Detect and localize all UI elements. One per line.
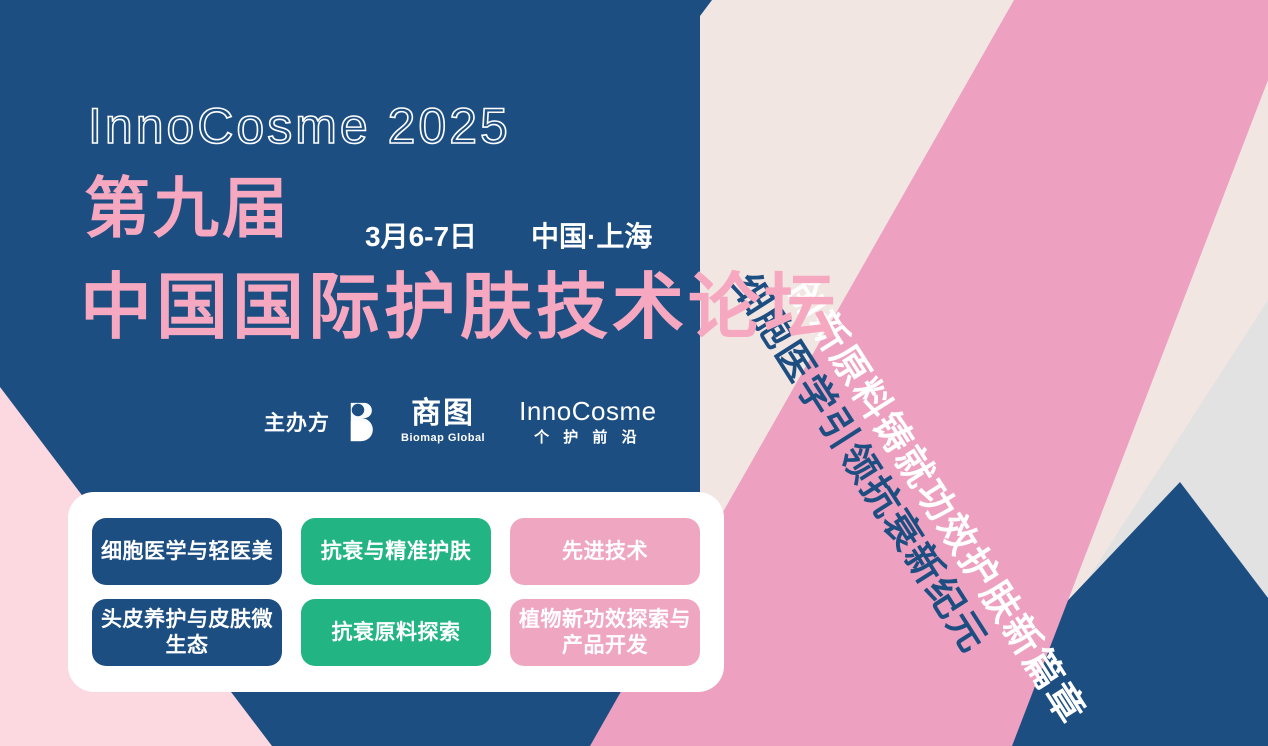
biomap-logo-icon	[346, 399, 392, 445]
innocosme-sub-brand-cn: 个 护 前 沿	[534, 430, 642, 445]
topic-row-2: 头皮养护与皮肤微生态 抗衰原料探索 植物新功效探索与产品开发	[92, 599, 700, 666]
topic-tag[interactable]: 抗衰与精准护肤	[301, 518, 491, 585]
topic-tag[interactable]: 先进技术	[510, 518, 700, 585]
topic-tag[interactable]: 抗衰原料探索	[301, 599, 491, 666]
event-meta-row: 3月6-7日 中国·上海	[365, 215, 652, 255]
page-title: 中国国际护肤技术论坛	[80, 272, 840, 344]
left-content-column: InnoCosme 2025 第九届 3月6-7日 中国·上海 中国国际护肤技术…	[0, 0, 740, 746]
topics-card: 细胞医学与轻医美 抗衰与精准护肤 先进技术 头皮养护与皮肤微生态 抗衰原料探索 …	[68, 492, 724, 692]
innocosme-sub-brand-en: InnoCosme	[519, 398, 656, 424]
edition-number: 第九届	[84, 175, 291, 241]
organizer-label: 主办方	[264, 407, 330, 437]
topic-tag[interactable]: 植物新功效探索与产品开发	[510, 599, 700, 666]
event-location: 中国·上海	[531, 215, 652, 255]
biomap-logo-cn: 商图	[411, 399, 475, 429]
topic-row-1: 细胞医学与轻医美 抗衰与精准护肤 先进技术	[92, 518, 700, 585]
event-date: 3月6-7日	[365, 215, 477, 255]
biomap-logo-wordmark: 商图 Biomap Global	[401, 399, 485, 444]
topic-tag[interactable]: 头皮养护与皮肤微生态	[92, 599, 282, 666]
biomap-logo-en: Biomap Global	[401, 433, 485, 444]
brand-outline-title: InnoCosme 2025	[88, 97, 511, 155]
conference-poster: 细胞医学引领抗衰新纪元 创新原料铸就功效护肤新篇章 InnoCosme 2025…	[0, 0, 1268, 746]
topic-tag[interactable]: 细胞医学与轻医美	[92, 518, 282, 585]
organizer-row: 主办方 商图 Biomap Global InnoCosme 个 护 前 沿	[264, 398, 657, 445]
biomap-logo: 商图 Biomap Global	[346, 399, 485, 445]
innocosme-sub-brand: InnoCosme 个 护 前 沿	[519, 398, 656, 445]
